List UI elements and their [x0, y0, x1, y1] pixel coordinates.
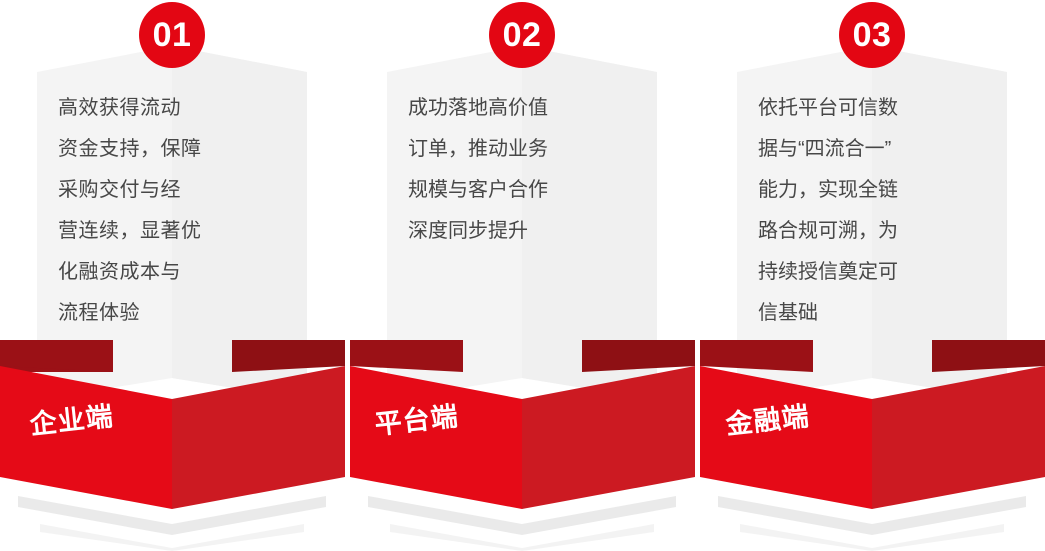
box-inner-right-1	[232, 340, 345, 372]
box-inner-right-2	[582, 340, 695, 372]
panel-2-graphic	[350, 0, 695, 551]
card-line: 据与“四流合一”	[758, 129, 983, 170]
card-body-3: 依托平台可信数 据与“四流合一” 能力，实现全链 路合规可溯，为 持续授信奠定可…	[758, 88, 983, 334]
box-inner-right-3	[932, 340, 1045, 372]
card-body-1: 高效获得流动 资金支持，保障 采购交付与经 营连续，显著优 化融资成本与 流程体…	[58, 88, 283, 334]
infographic-stage: 01 高效获得流动 资金支持，保障 采购交付与经 营连续，显著优 化融资成本与 …	[0, 0, 1045, 551]
card-line: 高效获得流动	[58, 88, 283, 129]
box-face-right-1	[172, 366, 345, 509]
panel-enterprise[interactable]: 01 高效获得流动 资金支持，保障 采购交付与经 营连续，显著优 化融资成本与 …	[0, 0, 345, 551]
box-face-right-3	[872, 366, 1045, 509]
badge-circle-1: 01	[139, 2, 205, 68]
card-line: 信基础	[758, 293, 983, 334]
box-face-left-3	[700, 366, 872, 509]
card-line: 资金支持，保障	[58, 129, 283, 170]
badge-number-1: 01	[153, 18, 192, 52]
card-body-2: 成功落地高价值 订单，推动业务 规模与客户合作 深度同步提升	[408, 88, 633, 252]
card-line: 依托平台可信数	[758, 88, 983, 129]
panel-finance[interactable]: 03 依托平台可信数 据与“四流合一” 能力，实现全链 路合规可溯，为 持续授信…	[700, 0, 1045, 551]
box-inner-left-3	[700, 340, 813, 372]
card-line: 流程体验	[58, 293, 283, 334]
card-line: 成功落地高价值	[408, 88, 633, 129]
card-line: 规模与客户合作	[408, 170, 633, 211]
card-line: 深度同步提升	[408, 211, 633, 252]
card-line: 采购交付与经	[58, 170, 283, 211]
box-face-left-1	[0, 366, 172, 509]
panel-platform[interactable]: 02 成功落地高价值 订单，推动业务 规模与客户合作 深度同步提升 平台端	[350, 0, 695, 551]
badge-circle-3: 03	[839, 2, 905, 68]
card-line: 路合规可溯，为	[758, 211, 983, 252]
card-line: 化融资成本与	[58, 252, 283, 293]
badge-number-2: 02	[503, 18, 542, 52]
badge-circle-2: 02	[489, 2, 555, 68]
box-face-right-2	[522, 366, 695, 509]
badge-number-3: 03	[853, 18, 892, 52]
box-inner-left-2	[350, 340, 463, 372]
card-line: 能力，实现全链	[758, 170, 983, 211]
card-line: 营连续，显著优	[58, 211, 283, 252]
card-line: 订单，推动业务	[408, 129, 633, 170]
card-line: 持续授信奠定可	[758, 252, 983, 293]
